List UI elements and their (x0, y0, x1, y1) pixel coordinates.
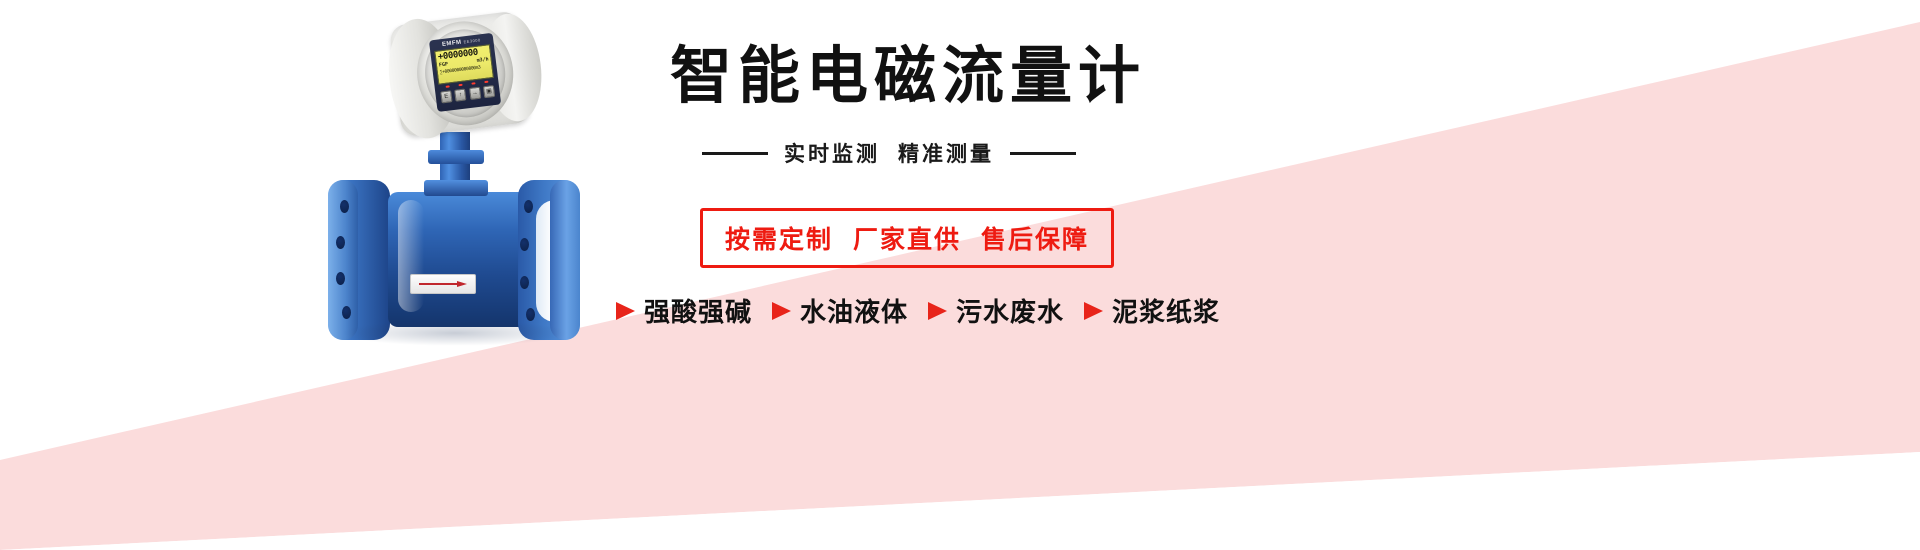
feature-item: 强酸强碱 (616, 292, 752, 329)
bolt-icon (340, 200, 349, 213)
lcd-unit: m3/h (476, 56, 489, 64)
bolt-icon (520, 276, 529, 289)
bolt-icon (526, 308, 535, 321)
subtitle-right: 精准测量 (898, 143, 994, 166)
keypad-button[interactable]: E (440, 90, 452, 103)
bolt-icon (336, 272, 345, 285)
promo-item-1: 按需定制 (725, 226, 833, 254)
model-text: EE3000 (463, 37, 481, 44)
neck-flange-lower (424, 180, 488, 196)
flow-direction-nameplate (410, 274, 476, 294)
product-image-flowmeter: EMFMEE3000 +0000000 FGP m3/h ∑+000000000… (300, 4, 630, 404)
bolt-icon (520, 238, 529, 251)
flange-right-face (550, 180, 580, 340)
product-banner: EMFMEE3000 +0000000 FGP m3/h ∑+000000000… (0, 0, 1920, 550)
bolt-icon (342, 306, 351, 319)
promo-item-2: 厂家直供 (853, 226, 961, 254)
triangle-right-icon (1084, 302, 1103, 320)
triangle-right-icon (928, 302, 947, 320)
keypad-button[interactable]: ↑ (454, 88, 466, 101)
promo-item-3: 售后保障 (981, 226, 1089, 254)
converter-head: EMFMEE3000 +0000000 FGP m3/h ∑+000000000… (357, 0, 554, 165)
converter-display-panel: EMFMEE3000 +0000000 FGP m3/h ∑+000000000… (429, 33, 501, 112)
feature-label: 水油液体 (800, 292, 908, 329)
subtitle-text: 实时监测精准测量 (784, 138, 994, 168)
brand-text: EMFM (442, 40, 462, 48)
triangle-right-icon (772, 302, 791, 320)
banner-subtitle: 实时监测精准测量 (702, 138, 1076, 168)
bolt-icon (524, 200, 533, 213)
keypad: E ↑ → ▣ (440, 85, 495, 103)
keypad-button[interactable]: → (469, 87, 481, 100)
banner-text-block: 智能电磁流量计 实时监测精准测量 按需定制厂家直供售后保障 强酸强碱 水油液体 … (640, 0, 1640, 550)
led-icon (445, 85, 449, 87)
feature-label: 强酸强碱 (644, 292, 752, 329)
keypad-button[interactable]: ▣ (483, 85, 495, 98)
feature-item: 泥浆纸浆 (1084, 292, 1220, 329)
flow-direction-arrow-icon (419, 281, 467, 288)
banner-title: 智能电磁流量计 (670, 42, 1146, 112)
feature-label: 污水废水 (956, 292, 1064, 329)
promo-box: 按需定制厂家直供售后保障 (700, 208, 1114, 268)
lcd-screen: +0000000 FGP m3/h ∑+0000000000000m3 (434, 44, 494, 85)
led-icon (484, 81, 488, 83)
led-icon (458, 84, 462, 86)
feature-item: 污水废水 (928, 292, 1064, 329)
rule-left (702, 152, 768, 155)
rule-right (1010, 152, 1076, 155)
product-shadow (340, 320, 570, 346)
feature-item: 水油液体 (772, 292, 908, 329)
feature-label: 泥浆纸浆 (1112, 292, 1220, 329)
body-highlight (398, 200, 424, 312)
subtitle-left: 实时监测 (784, 143, 880, 166)
led-icon (471, 82, 475, 84)
triangle-right-icon (616, 302, 635, 320)
promo-text: 按需定制厂家直供售后保障 (725, 220, 1089, 256)
feature-list: 强酸强碱 水油液体 污水废水 泥浆纸浆 (616, 292, 1230, 329)
bolt-icon (336, 236, 345, 249)
